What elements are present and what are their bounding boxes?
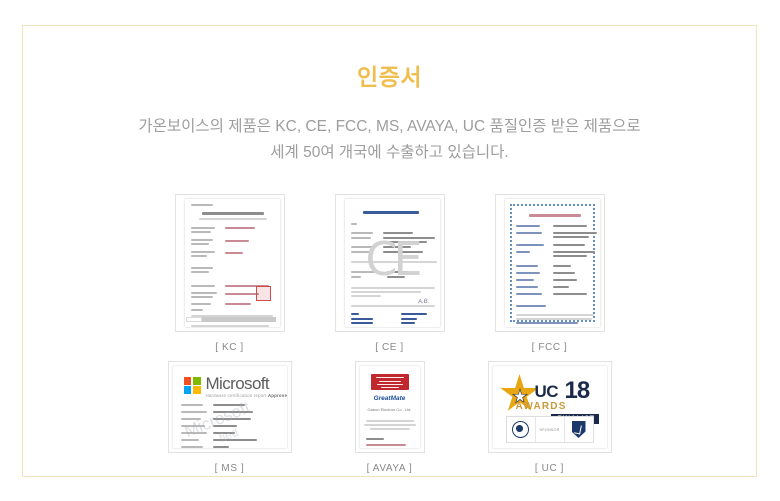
certificate-thumbnail-ms[interactable]: Microsoft Hardware certification report …	[168, 361, 292, 453]
certificate-item-avaya[interactable]: GreatMate Gaeun Electron Co., Ltd. [ AVA…	[320, 361, 460, 474]
avaya-header-badge	[371, 374, 409, 390]
kc-footer-tag	[186, 317, 202, 322]
certificate-item-ce[interactable]: CE A.B. [ CE ]	[320, 194, 460, 353]
page-title: 인증서	[23, 58, 756, 92]
uc-sponsor-3	[564, 417, 593, 442]
avaya-company-name: Gaeun Electron Co., Ltd.	[367, 407, 411, 412]
avaya-partner-logo: GreatMate	[374, 395, 406, 402]
certificate-caption-kc: [ KC ]	[215, 342, 244, 353]
certificate-row-2: Microsoft Hardware certification report …	[23, 361, 756, 474]
kc-document	[185, 199, 280, 327]
certificate-item-fcc[interactable]: [ FCC ]	[480, 194, 620, 353]
fcc-document	[505, 199, 600, 327]
microsoft-logo-icon	[184, 377, 201, 394]
certificate-thumbnail-uc[interactable]: UC 18 AWARDS FINALIST SPONSOR	[488, 361, 612, 453]
microsoft-report-subtitle: Hardware certification report Approved	[206, 393, 287, 398]
page-subtitle-line-1: 가온보이스의 제품은 KC, CE, FCC, MS, AVAYA, UC 품질…	[80, 114, 700, 140]
uc-award-uc-text: UC	[535, 383, 559, 400]
uc-sponsor-2: SPONSOR	[535, 417, 564, 442]
certificate-item-uc[interactable]: UC 18 AWARDS FINALIST SPONSOR	[480, 361, 620, 474]
uc-sponsor-label: SPONSOR	[539, 428, 559, 432]
certificate-thumbnail-kc[interactable]	[175, 194, 285, 332]
certificate-thumbnail-ce[interactable]: CE A.B.	[335, 194, 445, 332]
certificate-item-kc[interactable]: [ KC ]	[160, 194, 300, 353]
kc-official-seal	[256, 286, 271, 301]
microsoft-wordmark: Microsoft	[206, 375, 270, 392]
shield-check-icon	[572, 421, 586, 438]
avaya-document: GreatMate Gaeun Electron Co., Ltd.	[360, 366, 420, 448]
ms-document: Microsoft Hardware certification report …	[173, 366, 287, 448]
certificate-thumbnail-avaya[interactable]: GreatMate Gaeun Electron Co., Ltd.	[355, 361, 425, 453]
certificate-row-1: [ KC ]	[23, 194, 756, 353]
section-heading: 인증서 가온보이스의 제품은 KC, CE, FCC, MS, AVAYA, U…	[23, 26, 756, 165]
ce-watermark: CE	[365, 236, 418, 282]
kc-footer-bar	[192, 317, 276, 322]
certificate-caption-ms: [ MS ]	[215, 463, 245, 474]
certificate-caption-avaya: [ AVAYA ]	[367, 463, 413, 474]
ce-signature: A.B.	[418, 299, 430, 306]
certificate-item-ms[interactable]: Microsoft Hardware certification report …	[160, 361, 300, 474]
ce-document: CE A.B.	[345, 199, 440, 327]
microsoft-watermark-secondary: fied	[217, 425, 240, 445]
uc-sponsor-1	[507, 417, 535, 442]
certificate-grid: [ KC ]	[23, 194, 756, 474]
certificate-thumbnail-fcc[interactable]	[495, 194, 605, 332]
page-subtitle: 가온보이스의 제품은 KC, CE, FCC, MS, AVAYA, UC 품질…	[80, 114, 700, 165]
certificate-caption-fcc: [ FCC ]	[532, 342, 568, 353]
uc-award-awards-text: AWARDS	[516, 402, 567, 412]
uc-award-card: UC 18 AWARDS FINALIST SPONSOR	[493, 366, 607, 448]
uc-award-year-text: 18	[565, 379, 590, 403]
page-subtitle-line-2: 세계 50여 개국에 수출하고 있습니다.	[80, 140, 700, 166]
eye-icon	[512, 421, 529, 438]
certificate-caption-uc: [ UC ]	[535, 463, 564, 474]
uc-sponsor-strip: SPONSOR	[506, 416, 594, 443]
certificate-caption-ce: [ CE ]	[375, 342, 404, 353]
certificate-section: 인증서 가온보이스의 제품은 KC, CE, FCC, MS, AVAYA, U…	[22, 25, 757, 477]
